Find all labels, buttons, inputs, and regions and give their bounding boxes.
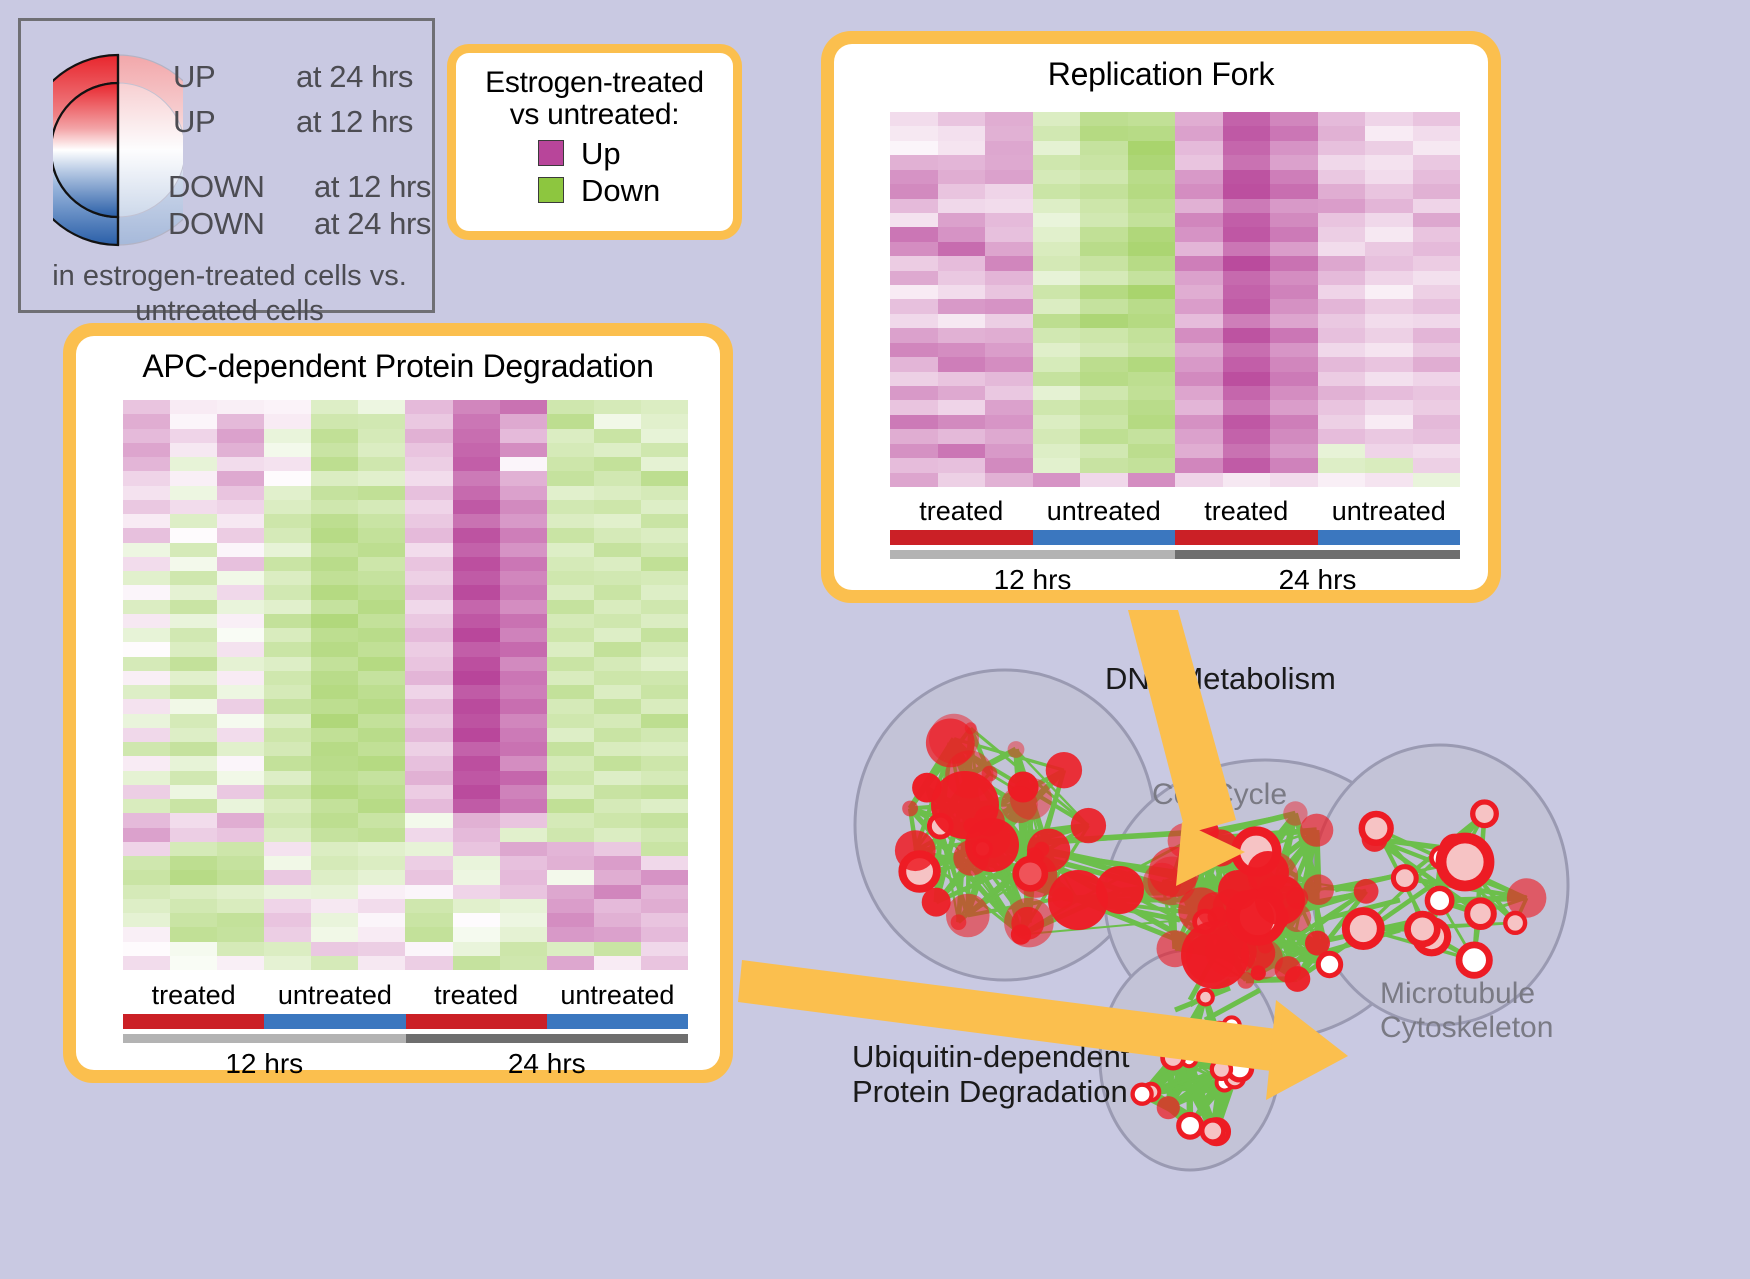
heat-cell [1413, 343, 1461, 357]
heat-cell [500, 543, 547, 557]
heat-cell [500, 714, 547, 728]
heat-cell [890, 141, 938, 155]
network-node[interactable] [1133, 1085, 1152, 1104]
heat-cell [594, 657, 641, 671]
heat-cell [938, 242, 986, 256]
heat-cell [170, 642, 217, 656]
heat-cell [311, 685, 358, 699]
heat-cell [594, 756, 641, 770]
heat-cell [641, 457, 688, 471]
timepoint-label-24: 24 hrs [406, 1048, 689, 1080]
heat-cell [547, 870, 594, 884]
heat-cell [170, 571, 217, 585]
heat-cell [358, 956, 405, 970]
network-node[interactable] [1251, 965, 1266, 980]
heat-cell [1128, 213, 1176, 227]
heat-cell [1128, 429, 1176, 443]
heat-cell [170, 942, 217, 956]
heat-cell [985, 271, 1033, 285]
heat-cell [1365, 299, 1413, 313]
network-node[interactable] [1441, 838, 1489, 886]
heat-cell [358, 571, 405, 585]
heat-cell [1365, 141, 1413, 155]
legend-label-down: Down [581, 175, 660, 206]
heat-cell [594, 557, 641, 571]
heat-cell [405, 457, 452, 471]
heat-cell [170, 471, 217, 485]
heat-cell [1080, 400, 1128, 414]
heat-cell [890, 170, 938, 184]
heat-cell [1318, 126, 1366, 140]
heat-cell [641, 671, 688, 685]
heat-cell [264, 842, 311, 856]
heat-cell [1223, 343, 1271, 357]
heat-cell [453, 557, 500, 571]
network-node[interactable] [1473, 802, 1497, 826]
heat-cell [358, 657, 405, 671]
heat-cell [594, 685, 641, 699]
heat-cell [641, 429, 688, 443]
heat-cell [405, 571, 452, 585]
cluster-label-ubiquitin: Ubiquitin-dependent Protein Degradation [852, 1040, 1130, 1109]
heat-cell [1365, 429, 1413, 443]
network-node[interactable] [965, 818, 1019, 872]
heat-cell [1080, 429, 1128, 443]
heat-cell [123, 899, 170, 913]
heat-cell [1080, 141, 1128, 155]
heat-cell [123, 728, 170, 742]
network-node[interactable] [1096, 866, 1144, 914]
heat-cell [1318, 256, 1366, 270]
heat-cell [938, 386, 986, 400]
heat-cell [217, 756, 264, 770]
heat-cell [641, 714, 688, 728]
network-node[interactable] [1459, 945, 1489, 975]
heat-cell [890, 458, 938, 472]
heat-cell [641, 528, 688, 542]
heat-cell [264, 471, 311, 485]
heat-cell [311, 842, 358, 856]
heat-cell [641, 571, 688, 585]
heat-cell [264, 557, 311, 571]
heat-cell [311, 585, 358, 599]
network-node[interactable] [1027, 847, 1043, 863]
panel-apc-degradation-title: APC-dependent Protein Degradation [76, 336, 720, 385]
heat-cell [170, 828, 217, 842]
heat-cell [123, 785, 170, 799]
heat-cell [170, 657, 217, 671]
heat-cell [547, 742, 594, 756]
legend-row-down: Down [466, 175, 723, 206]
condition-bar-seg-2 [1033, 530, 1176, 545]
heat-cell [1223, 314, 1271, 328]
network-node[interactable] [922, 888, 951, 917]
heat-cell [1270, 126, 1318, 140]
heat-cell [641, 557, 688, 571]
heat-cell [985, 372, 1033, 386]
network-node[interactable] [1179, 1114, 1202, 1137]
heat-cell [217, 628, 264, 642]
heat-cell [547, 571, 594, 585]
heat-cell [453, 870, 500, 884]
heat-cell [985, 415, 1033, 429]
network-node[interactable] [1393, 867, 1416, 890]
ring-legend-label-down-24: DOWN [168, 208, 265, 239]
heat-cell [405, 657, 452, 671]
heat-cell [641, 942, 688, 956]
heat-cell [547, 856, 594, 870]
heat-cell [547, 771, 594, 785]
heat-cell [405, 870, 452, 884]
heat-cell [311, 885, 358, 899]
heat-cell [1175, 155, 1223, 169]
heat-cell [123, 642, 170, 656]
heat-cell [1223, 155, 1271, 169]
heat-cell [1318, 429, 1366, 443]
heat-cell [985, 184, 1033, 198]
heat-cell [453, 414, 500, 428]
network-node[interactable] [1212, 1060, 1231, 1079]
heat-cell [641, 685, 688, 699]
heat-cell [890, 242, 938, 256]
heat-cell [1223, 213, 1271, 227]
heat-cell [1175, 328, 1223, 342]
network-node[interactable] [951, 914, 967, 930]
network-node[interactable] [1467, 900, 1494, 927]
network-node[interactable] [1046, 752, 1082, 788]
heat-cell [123, 471, 170, 485]
heat-cell [985, 458, 1033, 472]
heat-cell [123, 813, 170, 827]
heat-cell [311, 600, 358, 614]
heat-cell [264, 699, 311, 713]
heat-cell [890, 256, 938, 270]
heat-cell [985, 343, 1033, 357]
network-node[interactable] [1427, 888, 1451, 912]
heat-cell [453, 614, 500, 628]
heat-cell [264, 585, 311, 599]
heat-cell [311, 870, 358, 884]
heat-cell [1270, 184, 1318, 198]
heat-cell [938, 112, 986, 126]
heat-cell [405, 714, 452, 728]
heat-cell [938, 314, 986, 328]
network-node[interactable] [1004, 898, 1054, 948]
network-svg [760, 600, 1750, 1279]
heat-cell [1270, 199, 1318, 213]
heat-cell [1270, 299, 1318, 313]
heat-cell [358, 913, 405, 927]
heat-cell [123, 514, 170, 528]
heat-cell [1033, 328, 1081, 342]
heat-cell [1223, 242, 1271, 256]
heat-cell [405, 443, 452, 457]
heat-cell [1033, 299, 1081, 313]
network-node[interactable] [902, 801, 918, 817]
heat-cell [1318, 415, 1366, 429]
heat-cell [1270, 458, 1318, 472]
ring-legend-label-up-12: UP [173, 106, 215, 137]
heat-cell [123, 600, 170, 614]
network-node[interactable] [1354, 879, 1379, 904]
heat-cell [1080, 242, 1128, 256]
heat-cell [1080, 328, 1128, 342]
heat-cell [1175, 112, 1223, 126]
heat-cell [1033, 184, 1081, 198]
heat-cell [1365, 357, 1413, 371]
heat-cell [170, 400, 217, 414]
heat-cell [1365, 126, 1413, 140]
heat-cell [123, 657, 170, 671]
heat-cell [217, 642, 264, 656]
heat-cell [453, 628, 500, 642]
heat-cell [1413, 458, 1461, 472]
heat-cell [264, 685, 311, 699]
timepoint-color-bar [890, 550, 1460, 559]
heat-cell [500, 756, 547, 770]
heat-cell [985, 199, 1033, 213]
heat-cell [1175, 299, 1223, 313]
heat-cell [547, 671, 594, 685]
network-node[interactable] [1001, 786, 1038, 823]
heat-cell [985, 285, 1033, 299]
heat-cell [358, 685, 405, 699]
heat-cell [311, 899, 358, 913]
heat-cell [453, 813, 500, 827]
condition-labels: treated untreated treated untreated [890, 496, 1460, 527]
heat-cell [358, 714, 405, 728]
heat-cell [1413, 386, 1461, 400]
network-node[interactable] [929, 714, 979, 764]
network-node[interactable] [1318, 953, 1340, 975]
heat-cell [1080, 343, 1128, 357]
network-node[interactable] [946, 894, 990, 938]
heat-cell [217, 585, 264, 599]
network-node[interactable] [1224, 1017, 1240, 1033]
heat-cell [500, 500, 547, 514]
network-node[interactable] [1008, 741, 1025, 758]
heat-cell [500, 699, 547, 713]
heat-cell [1128, 314, 1176, 328]
heat-cell [500, 856, 547, 870]
heat-cell [641, 443, 688, 457]
heat-cell [1033, 126, 1081, 140]
heat-cell [453, 771, 500, 785]
heat-cell [500, 628, 547, 642]
heat-cell [217, 799, 264, 813]
heat-cell [311, 471, 358, 485]
condition-bar-seg-4 [1318, 530, 1461, 545]
heat-cell [123, 771, 170, 785]
heat-cell [500, 885, 547, 899]
network-node[interactable] [1198, 990, 1213, 1005]
heat-cell [405, 628, 452, 642]
heat-cell [123, 457, 170, 471]
heat-cell [1223, 415, 1271, 429]
network-node[interactable] [1202, 1120, 1224, 1142]
heat-cell [311, 942, 358, 956]
heat-cell [217, 414, 264, 428]
heat-cell [641, 899, 688, 913]
heat-cell [405, 756, 452, 770]
heat-cell [641, 856, 688, 870]
heat-cell [453, 956, 500, 970]
heat-cell [594, 486, 641, 500]
heat-cell [1413, 372, 1461, 386]
heat-cell [1270, 213, 1318, 227]
heat-cell [1413, 256, 1461, 270]
heat-cell [641, 486, 688, 500]
heat-cell [594, 728, 641, 742]
network-node[interactable] [1303, 874, 1334, 905]
heat-cell [1175, 343, 1223, 357]
network-node[interactable] [1362, 814, 1391, 843]
heat-cell [1128, 372, 1176, 386]
heat-cell [1223, 141, 1271, 155]
heat-cell [1033, 155, 1081, 169]
heat-cell [217, 457, 264, 471]
heat-cell [264, 500, 311, 514]
heat-cell [1175, 458, 1223, 472]
heat-cell [453, 742, 500, 756]
ring-legend-label-down-12: DOWN [168, 171, 265, 202]
heat-cell [985, 328, 1033, 342]
heat-cell [1033, 170, 1081, 184]
heat-cell [938, 141, 986, 155]
heat-cell [641, 500, 688, 514]
heat-cell [938, 213, 986, 227]
network-node[interactable] [895, 830, 936, 871]
heat-cell [1270, 285, 1318, 299]
heat-cell [264, 528, 311, 542]
heat-cell [217, 785, 264, 799]
network-node[interactable] [1247, 851, 1289, 893]
panel-apc-degradation-inner: APC-dependent Protein Degradation treate… [76, 336, 720, 1070]
heat-cell [500, 913, 547, 927]
network-node[interactable] [1305, 931, 1330, 956]
heat-cell [453, 728, 500, 742]
heat-cell [358, 885, 405, 899]
heat-cell [123, 742, 170, 756]
condition-label-1: treated [890, 496, 1033, 527]
heat-cell [1223, 170, 1271, 184]
heat-cell [1318, 473, 1366, 487]
network-node[interactable] [1163, 1047, 1184, 1068]
heat-cell [594, 870, 641, 884]
heat-cell [1270, 112, 1318, 126]
heat-cell [1175, 386, 1223, 400]
heat-cell [217, 899, 264, 913]
heat-cell [1033, 357, 1081, 371]
heat-cell [1413, 314, 1461, 328]
heat-cell [311, 671, 358, 685]
heat-cell [170, 899, 217, 913]
heat-cell [1365, 213, 1413, 227]
heat-cell [217, 870, 264, 884]
heat-cell [641, 543, 688, 557]
heat-cell [890, 271, 938, 285]
heat-cell [594, 471, 641, 485]
heat-cell [594, 642, 641, 656]
heat-cell [641, 870, 688, 884]
heat-cell [985, 213, 1033, 227]
heat-cell [1033, 141, 1081, 155]
heat-cell [1033, 386, 1081, 400]
heat-cell [358, 785, 405, 799]
heat-cell [594, 500, 641, 514]
heat-cell [123, 429, 170, 443]
heat-cell [453, 685, 500, 699]
heat-cell [1365, 155, 1413, 169]
heat-cell [405, 899, 452, 913]
heat-cell [1080, 184, 1128, 198]
heat-cell [311, 956, 358, 970]
estrogen-legend-card: Estrogen-treated vs untreated: Up Down [447, 44, 742, 240]
heat-cell [311, 642, 358, 656]
heat-cell [217, 942, 264, 956]
heat-cell [405, 799, 452, 813]
heat-cell [985, 242, 1033, 256]
heat-cell [1080, 372, 1128, 386]
network-node[interactable] [1408, 914, 1438, 944]
heat-cell [1318, 458, 1366, 472]
heat-cell [547, 543, 594, 557]
heat-cell [170, 600, 217, 614]
heat-cell [1365, 242, 1413, 256]
heat-cell [358, 600, 405, 614]
heat-cell [264, 642, 311, 656]
timepoint-bar-seg-12 [890, 550, 1175, 559]
heat-cell [1128, 357, 1176, 371]
heat-cell [1128, 271, 1176, 285]
heat-cell [890, 473, 938, 487]
heat-cell [453, 642, 500, 656]
heat-cell [123, 870, 170, 884]
heat-cell [641, 642, 688, 656]
timepoint-bar-seg-12 [123, 1034, 406, 1043]
network-node[interactable] [1275, 956, 1302, 983]
heat-cell [1413, 299, 1461, 313]
heat-cell [500, 514, 547, 528]
heat-cell [547, 414, 594, 428]
heat-cell [405, 685, 452, 699]
heat-cell [123, 671, 170, 685]
network-node[interactable] [1168, 823, 1203, 858]
condition-bar-seg-1 [123, 1014, 264, 1029]
heat-cell [500, 614, 547, 628]
heat-cell [217, 543, 264, 557]
heat-cell [547, 714, 594, 728]
heat-cell [1175, 372, 1223, 386]
heat-cell [500, 927, 547, 941]
heat-cell [1033, 227, 1081, 241]
heat-cell [453, 885, 500, 899]
heat-cell [264, 742, 311, 756]
ring-legend-time-down-24: at 24 hrs [314, 208, 431, 239]
heat-cell [170, 699, 217, 713]
network-node[interactable] [1157, 1096, 1180, 1119]
heat-cell [594, 699, 641, 713]
heat-cell [123, 557, 170, 571]
heat-cell [217, 471, 264, 485]
network-node[interactable] [1071, 808, 1106, 843]
heat-cell [594, 528, 641, 542]
heat-cell [217, 557, 264, 571]
heat-cell [217, 956, 264, 970]
network-node[interactable] [1505, 913, 1525, 933]
ring-legend-time-up-24: at 24 hrs [296, 61, 413, 92]
network-node[interactable] [1346, 911, 1381, 946]
